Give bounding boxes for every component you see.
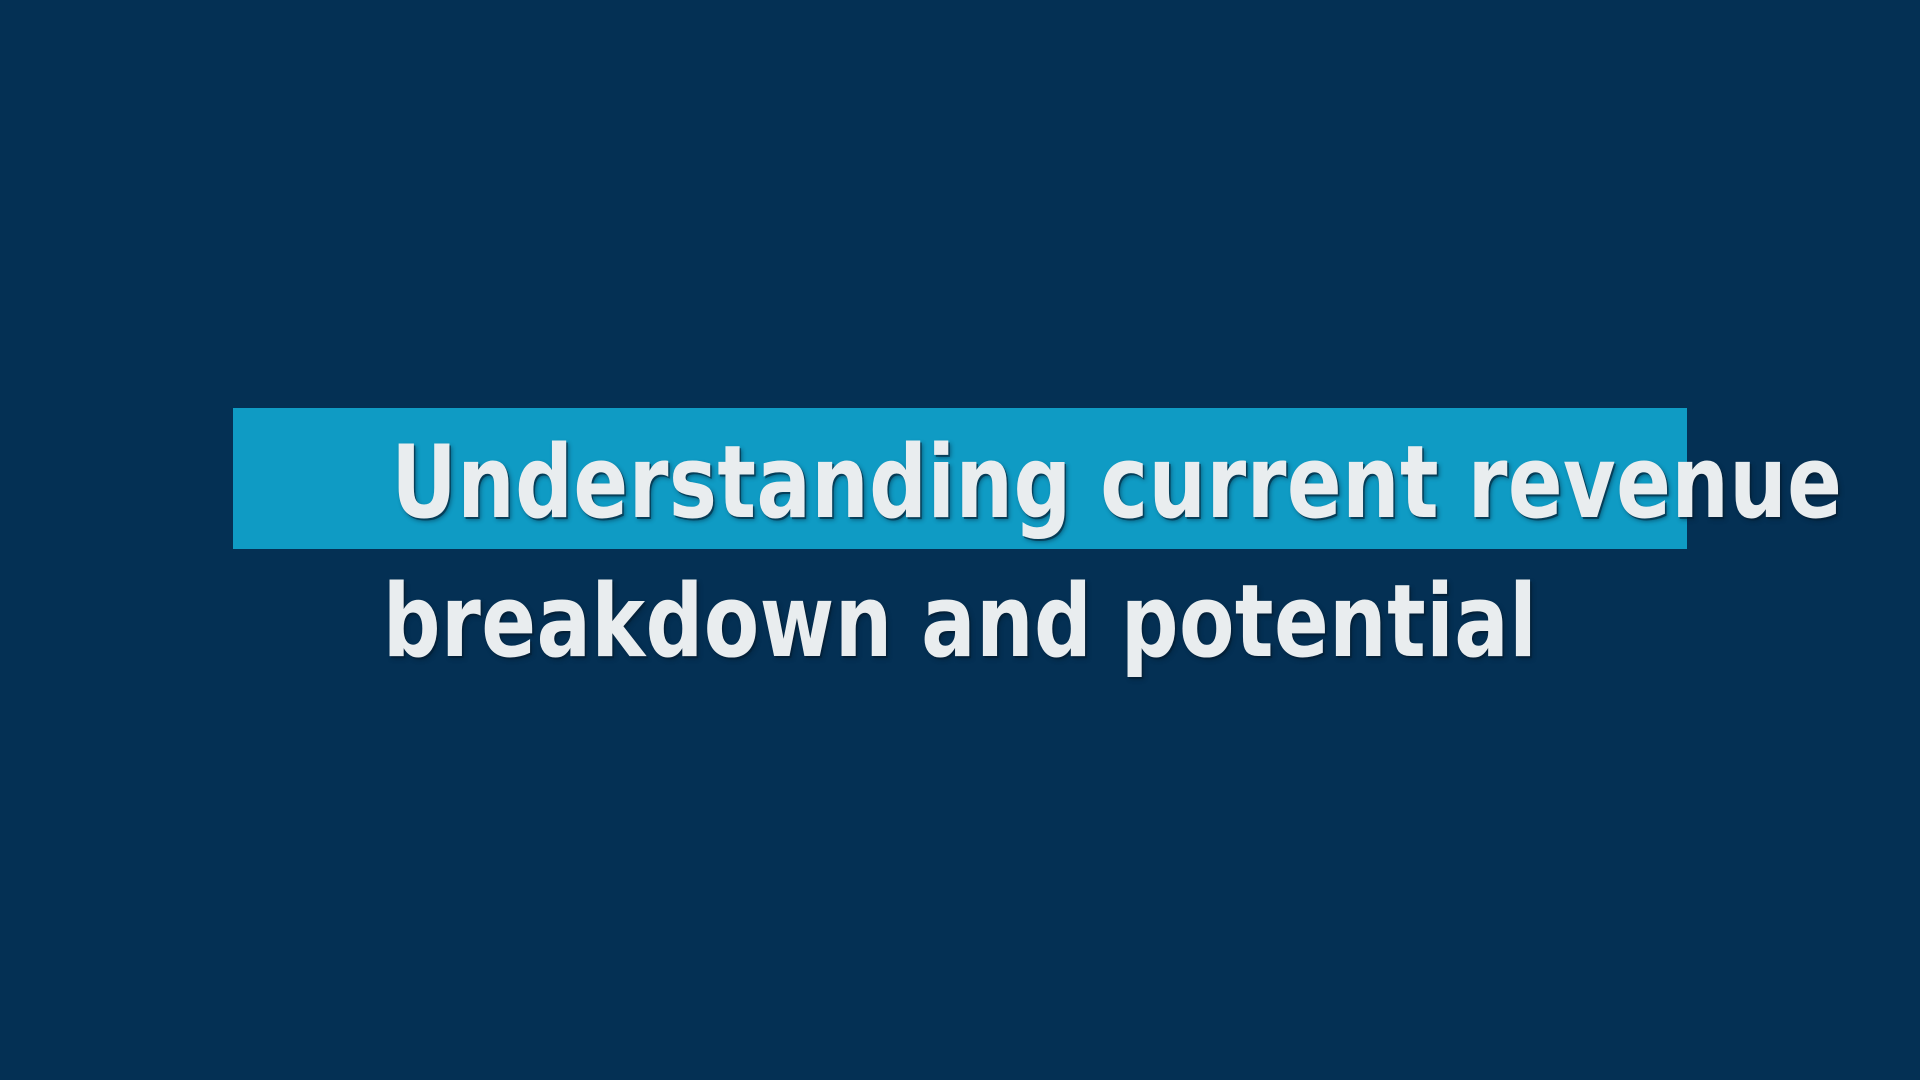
title-line-2: breakdown and potential (378, 571, 1541, 672)
title-line-1: Understanding current revenue (391, 432, 1529, 533)
title-highlight-band: Understanding current revenue (233, 408, 1687, 549)
slide-canvas: Understanding current revenue breakdown … (0, 0, 1920, 1080)
title-block: Understanding current revenue breakdown … (0, 0, 1920, 1080)
title-line-2-container: breakdown and potential (233, 553, 1687, 672)
